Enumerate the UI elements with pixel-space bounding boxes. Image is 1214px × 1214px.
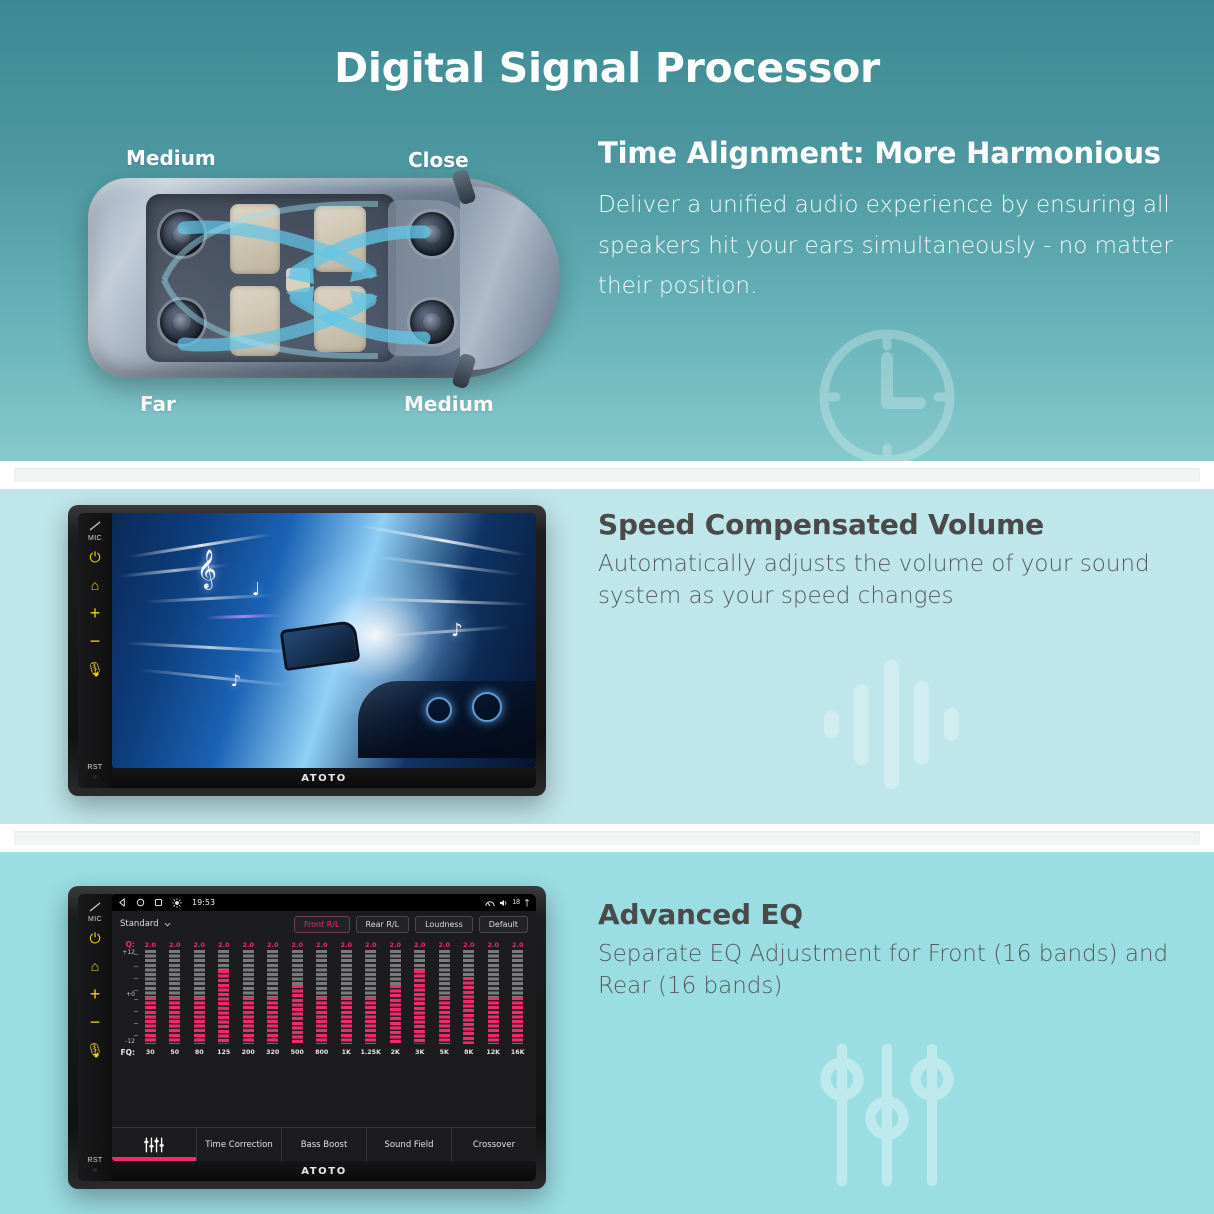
eq-band-125[interactable] — [212, 950, 237, 1044]
eq-q-value: 2.0 — [334, 941, 359, 949]
car-label-top-left: Medium — [126, 146, 216, 170]
eq-fq-value: 800 — [310, 1049, 335, 1056]
equalizer-icon — [143, 1137, 165, 1153]
page-title: Digital Signal Processor — [0, 44, 1214, 92]
eq-fq-value: 12K — [481, 1049, 506, 1056]
volume-down-icon[interactable]: − — [90, 1009, 101, 1035]
eq-fq-value: 30 — [138, 1049, 163, 1056]
eq-fq-values: 3050801252003205008001K1.25K2K3K5K8K12K1… — [138, 1049, 530, 1056]
brand-label-2: ATOTO — [301, 773, 347, 784]
eq-fq-value: 8K — [457, 1049, 482, 1056]
volume-icon — [499, 899, 508, 907]
eq-q-value: 2.0 — [432, 941, 457, 949]
eq-band-80[interactable] — [187, 950, 212, 1044]
infographic-page: Digital Signal Processor Medium Close Fa… — [0, 0, 1214, 1214]
eq-band-fill — [267, 997, 278, 1044]
panel-separator-1 — [0, 461, 1214, 489]
eq-button-default[interactable]: Default — [479, 916, 528, 933]
eq-q-value: 2.0 — [359, 941, 384, 949]
tab-sound-field[interactable]: Sound Field — [367, 1128, 452, 1161]
eq-band-fill — [341, 997, 352, 1044]
eq-band-track — [488, 950, 499, 1044]
sliders-icon — [812, 1040, 962, 1190]
eq-fq-value: 320 — [261, 1049, 286, 1056]
eq-band-track — [341, 950, 352, 1044]
eq-band-track — [218, 950, 229, 1044]
eq-q-value: 2.0 — [236, 941, 261, 949]
eq-band-fill — [145, 997, 156, 1044]
panel2-body: Automatically adjusts the volume of your… — [598, 549, 1178, 612]
reset-pinhole-icon[interactable] — [92, 1166, 98, 1172]
eq-button-loudness[interactable]: Loudness — [415, 916, 473, 933]
eq-band-fill — [488, 997, 499, 1044]
tab-bass-boost[interactable]: Bass Boost — [282, 1128, 367, 1161]
eq-fq-value: 16K — [506, 1049, 531, 1056]
eq-q-value: 2.0 — [408, 941, 433, 949]
car-hood — [460, 186, 560, 370]
car-label-top-right: Close — [408, 148, 469, 172]
eq-band-track — [194, 950, 205, 1044]
eq-fq-value: 1.25K — [359, 1049, 384, 1056]
eq-band-500[interactable] — [285, 950, 310, 1044]
car-diagram: Medium Close Far Medium — [60, 120, 580, 440]
power-icon[interactable]: ⏻ — [89, 544, 100, 570]
eq-band-16K[interactable] — [506, 950, 531, 1044]
reset-pinhole-icon[interactable] — [92, 773, 98, 779]
eq-q-label: Q: — [118, 940, 138, 949]
eq-q-value: 2.0 — [261, 941, 286, 949]
eq-fq-value: 80 — [187, 1049, 212, 1056]
eq-band-track — [512, 950, 523, 1044]
eq-band-8K[interactable] — [457, 950, 482, 1044]
eq-button-front-rl[interactable]: Front R/L — [294, 916, 350, 933]
eq-band-fill — [194, 997, 205, 1044]
eq-band-5K[interactable] — [432, 950, 457, 1044]
eq-fq-value: 50 — [163, 1049, 188, 1056]
home-circle-icon[interactable] — [136, 898, 145, 907]
eq-toolbar: Standard Front R/L Rear R/L Loudness Def… — [112, 911, 536, 937]
panel2-heading: Speed Compensated Volume — [598, 508, 1178, 541]
eq-fq-row: FQ: 3050801252003205008001K1.25K2K3K5K8K… — [118, 1046, 530, 1058]
eq-q-value: 2.0 — [212, 941, 237, 949]
home-icon[interactable]: ⌂ — [91, 572, 99, 598]
waveform-icon — [812, 648, 962, 798]
eq-band-12K[interactable] — [481, 950, 506, 1044]
volume-up-icon[interactable]: + — [90, 600, 101, 626]
back-icon[interactable] — [118, 898, 127, 907]
eq-band-fill — [292, 985, 303, 1044]
panel1-body: Deliver a unified audio experience by en… — [598, 185, 1198, 306]
eq-q-value: 2.0 — [138, 941, 163, 949]
signal-icon — [524, 899, 530, 907]
eq-q-value: 2.0 — [285, 941, 310, 949]
microphone-icon[interactable]: 🎙 — [86, 1037, 104, 1063]
device-screen-3[interactable]: 19:53 18 Standard — [112, 894, 536, 1161]
eq-q-value: 2.0 — [457, 941, 482, 949]
eq-fq-value: 125 — [212, 1049, 237, 1056]
eq-db-scale: +12 +0 -12 — [118, 950, 138, 1044]
mic-label-3: MIC — [88, 916, 102, 923]
android-status-bar: 19:53 18 — [112, 894, 536, 911]
eq-band-fill — [463, 977, 474, 1044]
status-bar-time: 19:53 — [192, 898, 215, 907]
panel1-heading: Time Alignment: More Harmonious — [598, 136, 1198, 171]
mic-slash-icon[interactable] — [89, 521, 101, 531]
eq-channel-buttons: Front R/L Rear R/L Loudness Default — [294, 916, 528, 933]
device-screen-2[interactable]: 𝄞 ♩ ♪ ♪ — [112, 513, 536, 768]
eq-q-value: 2.0 — [187, 941, 212, 949]
eq-fq-value: 1K — [334, 1049, 359, 1056]
eq-band-bars[interactable] — [138, 950, 530, 1044]
tab-crossover[interactable]: Crossover — [452, 1128, 536, 1161]
eq-q-value: 2.0 — [506, 941, 531, 949]
microphone-icon[interactable]: 🎙 — [86, 656, 104, 682]
eq-preset-label: Standard — [120, 919, 159, 929]
panel2-text-block: Speed Compensated Volume Automatically a… — [598, 508, 1178, 612]
head-unit-device-2: MIC ⏻ ⌂ + − 🎙 RST — [68, 505, 546, 796]
eq-band-800[interactable] — [310, 950, 335, 1044]
tab-equalizer[interactable] — [112, 1128, 197, 1161]
eq-band-track — [292, 950, 303, 1044]
eq-band-fill — [218, 970, 229, 1044]
panel3-heading: Advanced EQ — [598, 898, 1198, 931]
panel-separator-2 — [0, 824, 1214, 852]
panel3-body: Separate EQ Adjustment for Front (16 ban… — [598, 939, 1198, 1002]
eq-band-fill — [169, 997, 180, 1044]
car-label-bottom-right: Medium — [404, 392, 494, 416]
eq-band-50[interactable] — [163, 950, 188, 1044]
eq-band-fill — [316, 997, 327, 1044]
eq-band-track — [439, 950, 450, 1044]
eq-band-320[interactable] — [261, 950, 286, 1044]
eq-band-3K[interactable] — [408, 950, 433, 1044]
eq-scale-bottom: -12 — [125, 1038, 135, 1045]
eq-fq-value: 2K — [383, 1049, 408, 1056]
recents-square-icon[interactable] — [154, 898, 163, 907]
eq-band-200[interactable] — [236, 950, 261, 1044]
speedometer-icon — [485, 899, 495, 907]
eq-band-1.25K[interactable] — [359, 950, 384, 1044]
panel1-text-block: Time Alignment: More Harmonious Deliver … — [598, 136, 1198, 306]
eq-chart: Q: 2.02.02.02.02.02.02.02.02.02.02.02.02… — [112, 937, 536, 1127]
eq-scale-mid: +0 — [126, 991, 135, 998]
eq-band-track — [243, 950, 254, 1044]
eq-band-fill — [390, 985, 401, 1044]
eq-fq-value: 500 — [285, 1049, 310, 1056]
eq-q-value: 2.0 — [383, 941, 408, 949]
eq-button-rear-rl[interactable]: Rear R/L — [356, 916, 410, 933]
driving-wallpaper: 𝄞 ♩ ♪ ♪ — [112, 513, 536, 768]
eq-q-value: 2.0 — [310, 941, 335, 949]
eq-band-track — [145, 950, 156, 1044]
eq-preset-dropdown[interactable]: Standard — [120, 919, 171, 929]
tab-time-correction[interactable]: Time Correction — [197, 1128, 282, 1161]
eq-band-fill — [439, 997, 450, 1044]
eq-band-fill — [365, 997, 376, 1044]
eq-q-row: Q: 2.02.02.02.02.02.02.02.02.02.02.02.02… — [118, 939, 530, 950]
power-icon[interactable]: ⏻ — [89, 925, 100, 951]
car-label-bottom-left: Far — [140, 392, 176, 416]
eq-q-value: 2.0 — [163, 941, 188, 949]
mic-label-2: MIC — [88, 535, 102, 542]
eq-band-track — [390, 950, 401, 1044]
eq-band-30[interactable] — [138, 950, 163, 1044]
sound-wave-lines — [128, 184, 468, 374]
eq-fq-value: 200 — [236, 1049, 261, 1056]
eq-fq-value: 5K — [432, 1049, 457, 1056]
eq-bars-row: +12 +0 -12 — [118, 950, 530, 1044]
home-icon[interactable]: ⌂ — [91, 953, 99, 979]
eq-band-track — [365, 950, 376, 1044]
panel3-text-block: Advanced EQ Separate EQ Adjustment for F… — [598, 898, 1198, 1002]
eq-band-track — [169, 950, 180, 1044]
mic-slash-icon[interactable] — [89, 902, 101, 912]
eq-q-values: 2.02.02.02.02.02.02.02.02.02.02.02.02.02… — [138, 941, 530, 949]
eq-band-2K[interactable] — [383, 950, 408, 1044]
brightness-icon[interactable] — [172, 898, 182, 908]
brand-label-3: ATOTO — [301, 1166, 347, 1177]
eq-band-track — [463, 950, 474, 1044]
reset-label-3: RST — [87, 1157, 102, 1164]
car-body — [88, 178, 558, 378]
eq-band-fill — [414, 970, 425, 1044]
device-brand-bar-3: ATOTO — [112, 1161, 536, 1181]
chevron-down-icon — [164, 922, 171, 927]
device-button-column-2: MIC ⏻ ⌂ + − 🎙 RST — [78, 513, 112, 788]
clock-icon — [812, 322, 962, 461]
device-brand-bar-2: ATOTO — [112, 768, 536, 788]
eq-band-track — [316, 950, 327, 1044]
eq-band-1K[interactable] — [334, 950, 359, 1044]
eq-app: 19:53 18 Standard — [112, 894, 536, 1161]
eq-band-fill — [243, 997, 254, 1044]
volume-up-icon[interactable]: + — [90, 981, 101, 1007]
eq-band-track — [414, 950, 425, 1044]
eq-q-value: 2.0 — [481, 941, 506, 949]
eq-fq-value: 3K — [408, 1049, 433, 1056]
volume-value: 18 — [512, 899, 520, 906]
eq-band-fill — [512, 997, 523, 1044]
reset-label-2: RST — [87, 764, 102, 771]
device-button-column-3: MIC ⏻ ⌂ + − 🎙 RST — [78, 894, 112, 1181]
eq-tab-bar: Time Correction Bass Boost Sound Field C… — [112, 1127, 536, 1161]
volume-down-icon[interactable]: − — [90, 628, 101, 654]
eq-band-track — [267, 950, 278, 1044]
panel-time-alignment: Digital Signal Processor Medium Close Fa… — [0, 0, 1214, 461]
head-unit-device-3: MIC ⏻ ⌂ + − 🎙 RST — [68, 886, 546, 1189]
eq-fq-label: FQ: — [118, 1048, 138, 1057]
